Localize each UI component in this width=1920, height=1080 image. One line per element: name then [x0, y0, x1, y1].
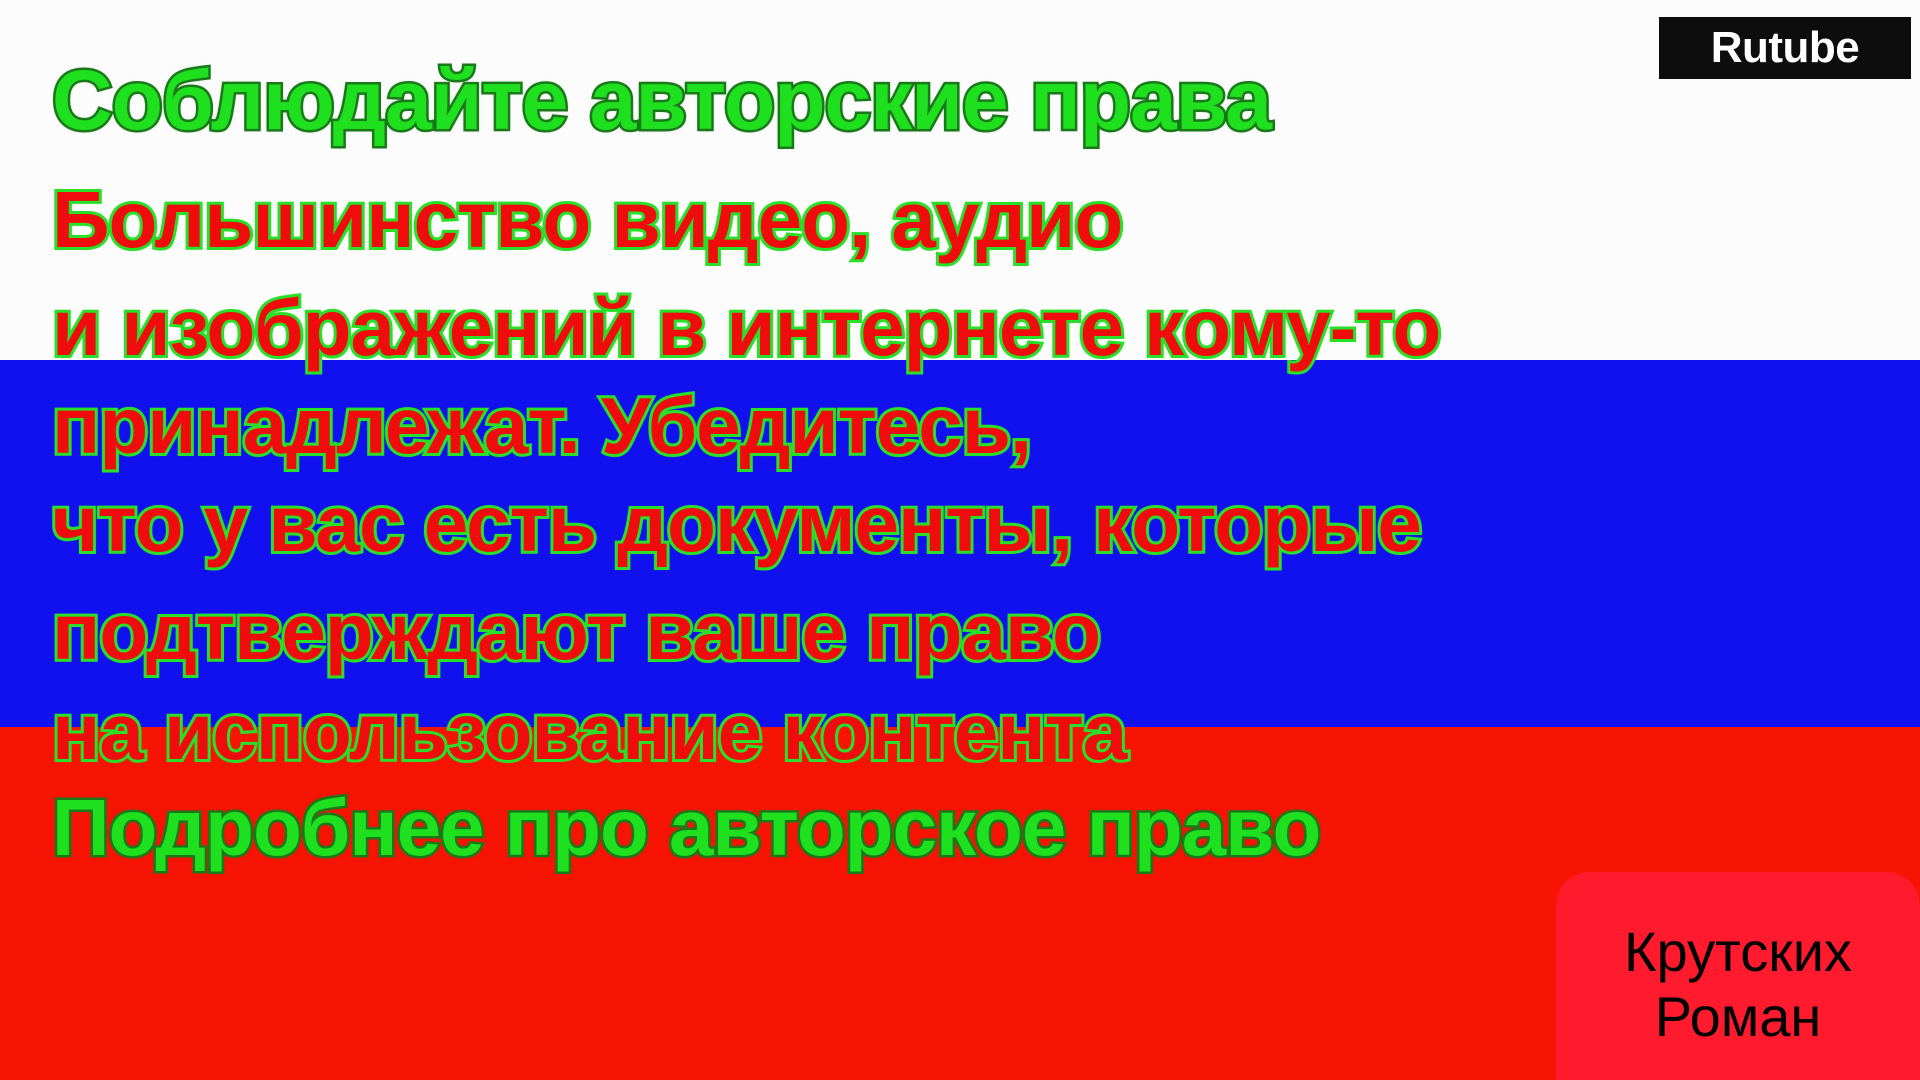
channel-watermark-firstname: Роман [1655, 985, 1822, 1050]
screenshot-stage: Rutube Соблюдайте авторские права Больши… [0, 0, 1920, 1080]
caption-line-1: Соблюдайте авторские права [52, 58, 1271, 142]
caption-line-8: Подробнее про авторское право [52, 788, 1320, 868]
channel-watermark-surname: Крутских [1624, 920, 1852, 985]
caption-line-3: и изображений в интернете кому-то [52, 288, 1440, 368]
caption-line-5: что у вас есть документы, которые [52, 484, 1421, 564]
caption-line-6: подтверждают ваше право [52, 592, 1100, 672]
caption-line-4: принадлежат. Убедитесь, [52, 386, 1031, 466]
caption-line-2: Большинство видео, аудио [52, 180, 1122, 260]
channel-watermark: Крутских Роман [1556, 872, 1920, 1080]
caption-line-7: на использование контента [52, 692, 1126, 772]
